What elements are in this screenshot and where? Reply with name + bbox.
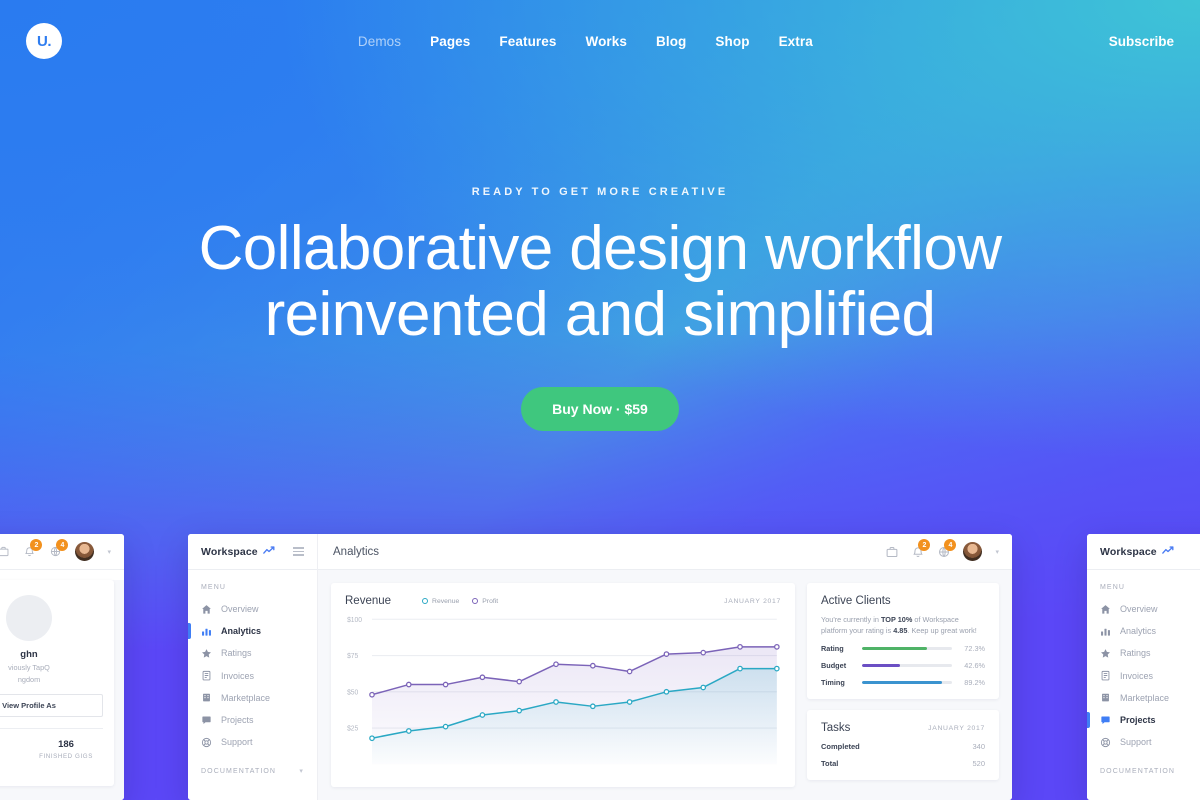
dashboard-topbar-icons: 2 4 ▾ [885, 542, 1012, 561]
task-row: Total520 [821, 759, 985, 768]
chart-point-profit[interactable] [664, 652, 668, 656]
progress-value: 89.2% [960, 678, 985, 687]
sidebar-item-label: Projects [221, 715, 254, 725]
chevron-down-icon[interactable]: ▾ [107, 548, 111, 556]
task-label: Completed [821, 742, 860, 751]
dashboard-body: Workspace MENU OverviewAnalyticsRatingsI… [188, 534, 1012, 800]
sidebar-item-label: Ratings [221, 648, 252, 658]
briefcase-icon[interactable] [0, 545, 10, 558]
sidebar-item-support[interactable]: Support [188, 731, 317, 753]
legend-label-profit: Profit [482, 598, 498, 605]
star-icon [1100, 648, 1111, 659]
legend-dot-profit [472, 598, 478, 604]
ac-desc-bold-rating: 4.85 [893, 626, 907, 635]
active-clients-title: Active Clients [821, 595, 985, 607]
chart-point-revenue[interactable] [370, 736, 374, 740]
dashboard-main-column: Analytics 2 [318, 534, 1012, 800]
progress-fill [862, 681, 942, 684]
task-value: 520 [972, 759, 985, 768]
invoice-icon [1100, 670, 1111, 681]
workspace-title: Workspace [1100, 546, 1157, 558]
nav-link-pages[interactable]: Pages [430, 34, 470, 49]
page-title: Collaborative design workflow reinvented… [0, 216, 1200, 348]
legend-item-revenue[interactable]: Revenue [422, 598, 459, 605]
nav-link-blog[interactable]: Blog [656, 34, 686, 49]
progress-row-budget: Budget42.6% [821, 661, 985, 670]
chart-point-revenue[interactable] [664, 690, 668, 694]
progress-label: Budget [821, 661, 854, 670]
revenue-card-title: Revenue [345, 595, 391, 607]
progress-label: Rating [821, 644, 854, 653]
building-icon [1100, 692, 1111, 703]
chat-icon [201, 715, 212, 726]
star-icon [201, 648, 212, 659]
tasks-card: Tasks JANUARY 2017 Completed340Total520 [807, 710, 999, 780]
chart-point-profit[interactable] [738, 645, 742, 649]
secondary-sidebar-section-menu-label: MENU [1100, 584, 1125, 591]
y-axis-tick-label: $75 [347, 653, 358, 660]
sidebar-item-label: Invoices [1120, 671, 1153, 681]
chart-point-revenue[interactable] [591, 704, 595, 708]
profile-stats: 4 NTS 186 FINISHED GIGS [0, 728, 103, 760]
chart-point-profit[interactable] [443, 682, 447, 686]
profile-subtitle: viously TapQ [0, 663, 103, 672]
revenue-card-date: JANUARY 2017 [724, 598, 781, 605]
headline-line-2: reinvented and simplified [265, 280, 936, 349]
sidebar-item-invoices[interactable]: Invoices [1087, 665, 1200, 687]
chart-point-profit[interactable] [554, 662, 558, 666]
building-icon [201, 692, 212, 703]
task-row: Completed340 [821, 742, 985, 751]
sidebar-item-projects[interactable]: Projects [1087, 709, 1200, 731]
chart-point-revenue[interactable] [701, 685, 705, 689]
sidebar-item-label: Support [221, 737, 253, 747]
task-label: Total [821, 759, 838, 768]
sidebar-item-label: Projects [1120, 715, 1156, 725]
analytics-dashboard-panel: Workspace MENU OverviewAnalyticsRatingsI… [188, 534, 1012, 800]
dashboard-content: Revenue Revenue Profit [318, 570, 1012, 800]
tasks-card-date: JANUARY 2017 [928, 725, 985, 732]
nav-link-features[interactable]: Features [499, 34, 556, 49]
hamburger-icon[interactable] [293, 547, 304, 555]
active-clients-card: Active Clients You're currently in TOP 1… [807, 583, 999, 699]
y-axis-tick-label: $100 [347, 617, 362, 624]
view-profile-as-button[interactable]: View Profile As [0, 694, 103, 717]
sidebar-section-documentation-label: DOCUMENTATION [201, 768, 276, 775]
legend-label-revenue: Revenue [432, 598, 459, 605]
chart-point-profit[interactable] [591, 663, 595, 667]
profile-stat-caption: FINISHED GIGS [29, 753, 103, 760]
secondary-sidebar-section-documentation: DOCUMENTATION ▾ [1087, 753, 1200, 782]
sidebar-item-ratings[interactable]: Ratings [1087, 642, 1200, 664]
revenue-chart-card: Revenue Revenue Profit [331, 583, 795, 787]
sidebar-item-marketplace[interactable]: Marketplace [188, 687, 317, 709]
sidebar-item-invoices[interactable]: Invoices [188, 665, 317, 687]
chart-point-revenue[interactable] [738, 666, 742, 670]
secondary-sidebar-menu-list: OverviewAnalyticsRatingsInvoicesMarketpl… [1087, 598, 1200, 753]
active-clients-bars: Rating72.3%Budget42.6%Timing89.2% [821, 644, 985, 687]
sidebar-item-overview[interactable]: Overview [1087, 598, 1200, 620]
sidebar-item-label: Marketplace [221, 693, 270, 703]
profile-panel-topbar: 2 4 ▾ [0, 534, 124, 570]
progress-track [862, 681, 952, 684]
nav-subscribe-link[interactable]: Subscribe [1109, 34, 1174, 49]
sidebar-item-support[interactable]: Support [1087, 731, 1200, 753]
bar-chart-icon [1100, 626, 1111, 637]
hero-eyebrow: READY TO GET MORE CREATIVE [0, 186, 1200, 198]
bar-chart-icon [201, 626, 212, 637]
chart-point-revenue[interactable] [554, 700, 558, 704]
chat-icon [1100, 715, 1111, 726]
bell-icon[interactable]: 2 [23, 545, 36, 558]
hero-copy: READY TO GET MORE CREATIVE Collaborative… [0, 186, 1200, 431]
sidebar-item-overview[interactable]: Overview [188, 598, 317, 620]
active-clients-description: You're currently in TOP 10% of Workspace… [821, 614, 985, 636]
progress-track [862, 647, 952, 650]
hero-section: U. DemosPagesFeaturesWorksBlogShopExtra … [0, 0, 1200, 800]
ac-desc-prefix: You're currently in [821, 615, 881, 624]
chart-point-profit[interactable] [775, 645, 779, 649]
chart-point-profit[interactable] [370, 692, 374, 696]
profile-stat-value: 186 [29, 739, 103, 750]
sidebar-section-documentation: DOCUMENTATION ▾ [188, 753, 317, 782]
chevron-down-icon[interactable]: ▾ [995, 548, 999, 556]
secondary-sidebar-section-documentation-label: DOCUMENTATION [1100, 768, 1175, 775]
sidebar-item-label: Analytics [1120, 626, 1156, 636]
chart-point-profit[interactable] [480, 675, 484, 679]
profile-panel-body: ghn viously TapQ ngdom View Profile As 4… [0, 580, 124, 800]
sidebar-header: Workspace [188, 534, 317, 570]
trend-up-icon [1162, 546, 1174, 557]
sidebar-item-label: Marketplace [1120, 693, 1169, 703]
workspace-title: Workspace [201, 546, 258, 558]
top-navbar: U. DemosPagesFeaturesWorksBlogShopExtra … [0, 0, 1200, 82]
sidebar-item-label: Ratings [1120, 648, 1151, 658]
progress-fill [862, 664, 900, 667]
chart-point-revenue[interactable] [443, 724, 447, 728]
profile-location: ngdom [0, 675, 103, 684]
home-icon [201, 604, 212, 615]
nav-link-extra[interactable]: Extra [779, 34, 813, 49]
briefcase-icon[interactable] [885, 545, 898, 558]
sidebar-item-label: Invoices [221, 671, 254, 681]
profile-panel: 2 4 ▾ ghn viously TapQ [0, 534, 124, 800]
dashboard-topbar: Analytics 2 [318, 534, 1012, 570]
lifebuoy-icon [1100, 737, 1111, 748]
headline-line-1: Collaborative design workflow [199, 214, 1002, 283]
profile-stat: 186 FINISHED GIGS [29, 739, 103, 760]
dashboard-right-column: Active Clients You're currently in TOP 1… [807, 583, 999, 787]
sidebar-section-menu-label: MENU [201, 584, 226, 591]
chart-point-profit[interactable] [627, 669, 631, 673]
profile-name: ghn [0, 649, 103, 660]
chart-point-profit[interactable] [407, 682, 411, 686]
profile-avatar [6, 595, 52, 641]
brand-logo[interactable]: U. [26, 23, 62, 59]
legend-dot-revenue [422, 598, 428, 604]
ac-desc-bold-top: TOP 10% [881, 615, 912, 624]
chart-point-revenue[interactable] [517, 708, 521, 712]
profile-topbar-icons: 2 4 ▾ [0, 542, 124, 561]
progress-track [862, 664, 952, 667]
progress-value: 42.6% [960, 661, 985, 670]
comment-icon[interactable]: 4 [49, 545, 62, 558]
chart-point-revenue[interactable] [627, 700, 631, 704]
sidebar-item-label: Analytics [221, 626, 261, 636]
nav-links: DemosPagesFeaturesWorksBlogShopExtra [62, 34, 1109, 49]
brand-logo-text: U. [37, 33, 51, 50]
sidebar-item-label: Overview [221, 604, 259, 614]
nav-link-demos[interactable]: Demos [358, 34, 401, 49]
dashboard-page-title: Analytics [318, 546, 379, 558]
sidebar-item-analytics[interactable]: Analytics [188, 620, 317, 642]
sidebar-menu-list: OverviewAnalyticsRatingsInvoicesMarketpl… [188, 598, 317, 753]
y-axis-tick-label: $50 [347, 689, 358, 696]
chart-point-revenue[interactable] [407, 729, 411, 733]
secondary-sidebar: Workspace MENU OverviewAnalyticsRatingsI… [1087, 534, 1200, 800]
ac-desc-suffix: . Keep up great work! [907, 626, 976, 635]
secondary-sidebar-section-menu: MENU [1087, 570, 1200, 598]
profile-stat: 4 NTS [0, 739, 29, 760]
avatar[interactable] [963, 542, 982, 561]
chart-point-profit[interactable] [517, 679, 521, 683]
buy-now-button[interactable]: Buy Now · $59 [521, 387, 679, 431]
progress-row-timing: Timing89.2% [821, 678, 985, 687]
progress-fill [862, 647, 927, 650]
secondary-sidebar-header: Workspace [1087, 534, 1200, 570]
bell-badge: 2 [30, 539, 42, 551]
profile-stat-caption: NTS [0, 753, 29, 760]
chart-legend: Revenue Profit [422, 598, 498, 605]
tasks-card-header: Tasks JANUARY 2017 [821, 722, 985, 734]
legend-item-profit[interactable]: Profit [472, 598, 498, 605]
dashboard-mockups: 2 4 ▾ ghn viously TapQ [0, 534, 1200, 800]
task-value: 340 [972, 742, 985, 751]
lifebuoy-icon [201, 737, 212, 748]
comment-badge: 4 [944, 539, 956, 551]
trend-up-icon [263, 546, 275, 557]
sidebar-item-label: Support [1120, 737, 1152, 747]
progress-label: Timing [821, 678, 854, 687]
chart-point-profit[interactable] [701, 650, 705, 654]
sidebar-item-marketplace[interactable]: Marketplace [1087, 687, 1200, 709]
sidebar-item-projects[interactable]: Projects [188, 709, 317, 731]
comment-badge: 4 [56, 539, 68, 551]
hero-cta-wrap: Buy Now · $59 [0, 387, 1200, 431]
revenue-chart-svg: $25$50$75$100 [345, 615, 781, 775]
bell-icon[interactable]: 2 [911, 545, 924, 558]
sidebar-item-ratings[interactable]: Ratings [188, 642, 317, 664]
chart-point-revenue[interactable] [775, 666, 779, 670]
profile-stat-value: 4 [0, 739, 29, 750]
comment-icon[interactable]: 4 [937, 545, 950, 558]
chart-point-revenue[interactable] [480, 713, 484, 717]
revenue-card-header: Revenue Revenue Profit [345, 595, 781, 607]
avatar[interactable] [75, 542, 94, 561]
chevron-down-icon[interactable]: ▾ [299, 767, 304, 775]
home-icon [1100, 604, 1111, 615]
progress-value: 72.3% [960, 644, 985, 653]
secondary-dashboard-panel: Workspace MENU OverviewAnalyticsRatingsI… [1087, 534, 1200, 800]
sidebar-section-menu: MENU [188, 570, 317, 598]
tasks-rows: Completed340Total520 [821, 742, 985, 768]
sidebar-item-analytics[interactable]: Analytics [1087, 620, 1200, 642]
nav-link-shop[interactable]: Shop [715, 34, 749, 49]
profile-card: ghn viously TapQ ngdom View Profile As 4… [0, 580, 114, 786]
bell-badge: 2 [918, 539, 930, 551]
progress-row-rating: Rating72.3% [821, 644, 985, 653]
invoice-icon [201, 670, 212, 681]
revenue-line-chart: $25$50$75$100 [345, 615, 781, 775]
y-axis-tick-label: $25 [347, 726, 358, 733]
dashboard-sidebar: Workspace MENU OverviewAnalyticsRatingsI… [188, 534, 318, 800]
tasks-card-title: Tasks [821, 722, 850, 734]
nav-link-works[interactable]: Works [585, 34, 627, 49]
sidebar-item-label: Overview [1120, 604, 1158, 614]
